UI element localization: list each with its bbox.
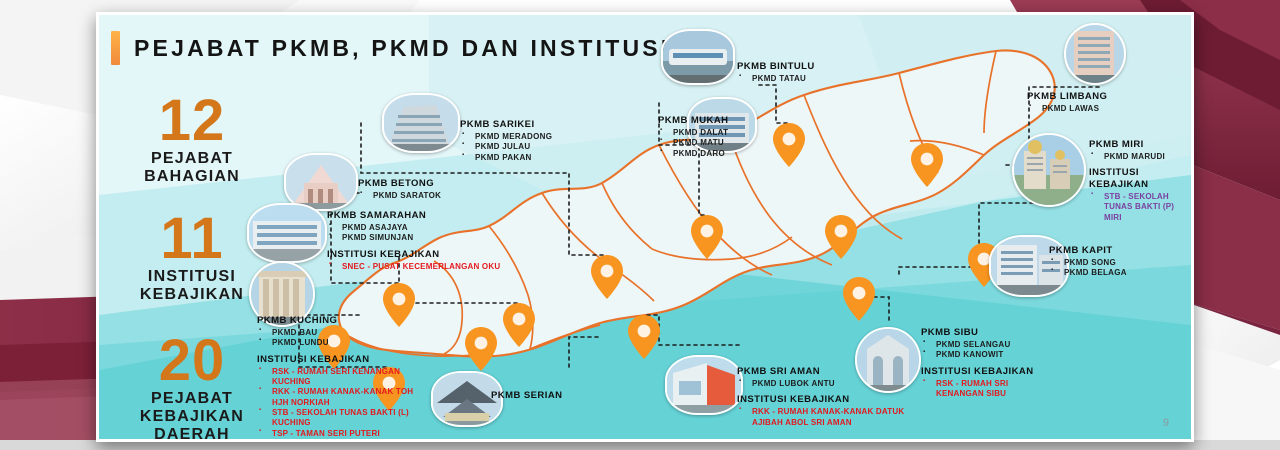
photo-bintulu: [661, 29, 735, 85]
stat-label-line1: PEJABAT: [117, 390, 267, 408]
stat-block-institusi-kebajikan: 11 INSTITUSI KEBAJIKAN: [117, 211, 267, 304]
callout-office-item: PKMD BAU: [257, 328, 421, 338]
callout-title: PKMB LIMBANG: [1027, 91, 1107, 103]
stat-label-line1: INSTITUSI: [117, 268, 267, 286]
map-marker-limbang: [911, 143, 943, 187]
callout-office-list: PKMD ASAJAYA PKMD SIMUNJAN: [327, 223, 500, 244]
callout-title: PKMB KAPIT: [1049, 245, 1127, 257]
callout-office-list: PKMD BAU PKMD LUNDU: [257, 328, 421, 349]
callout-title: PKMB SERIAN: [491, 390, 562, 402]
callout-institution-list: SNEC - PUSAT KECEMERLANGAN OKU: [327, 262, 500, 272]
callout-office-item: PKMD MARUDI: [1089, 152, 1175, 162]
title-label: PEJABAT PKMB, PKMD DAN INSTITUSI: [134, 35, 670, 62]
callout-bintulu: PKMB BINTULU PKMD TATAU: [737, 61, 815, 84]
map-marker-bintulu: [773, 123, 805, 167]
stat-block-pejabat-bahagian: 12 PEJABAT BAHAGIAN: [117, 93, 267, 186]
callout-office-list: PKMD SONG PKMD BELAGA: [1049, 258, 1127, 279]
callout-office-list: PKMD LUBOK ANTU: [737, 379, 909, 389]
callout-office-item: PKMD BELAGA: [1049, 268, 1127, 278]
slide-card: PEJABAT PKMB, PKMD DAN INSTITUSI 12 PEJA…: [96, 12, 1194, 442]
callout-institution-heading: INSTITUSI KEBAJIKAN: [921, 366, 1053, 378]
callout-office-list: PKMD TATAU: [737, 74, 815, 84]
callout-office-item: PKMD LAWAS: [1027, 104, 1107, 114]
stat-label-line3: DAERAH: [117, 426, 267, 442]
callout-office-item: PKMD DALAT: [658, 128, 728, 138]
page-number: 9: [1163, 417, 1169, 429]
callout-office-item: PKMD TATAU: [737, 74, 815, 84]
callout-office-item: PKMD ASAJAYA: [327, 223, 500, 233]
stat-label: INSTITUSI KEBAJIKAN: [117, 268, 267, 304]
callout-betong: PKMB BETONG PKMD SARATOK: [358, 178, 441, 201]
callout-kapit: PKMB KAPIT PKMD SONG PKMD BELAGA: [1049, 245, 1127, 279]
stat-number: 20: [117, 333, 267, 388]
stat-label-line1: PEJABAT: [117, 150, 267, 168]
callout-sibu: PKMB SIBU PKMD SELANGAU PKMD KANOWIT INS…: [921, 327, 1053, 399]
callout-institution-list: STB - SEKOLAH TUNAS BAKTI (P) MIRI: [1089, 192, 1175, 223]
callout-institution-heading: INSTITUSI KEBAJIKAN: [327, 249, 500, 261]
callout-institution-item: AA - ASRAMA AKHLAK (L): [257, 439, 421, 442]
callout-title: PKMB BETONG: [358, 178, 441, 190]
stat-label-line2: KEBAJIKAN: [117, 286, 267, 304]
callout-institution-list: RSK - RUMAH SRI KENANGAN SIBU: [921, 379, 1053, 400]
photo-samarahan: [247, 203, 327, 263]
map-marker-sri-aman: [628, 315, 660, 359]
slide-stage: PEJABAT PKMB, PKMD DAN INSTITUSI 12 PEJA…: [0, 0, 1280, 450]
callout-office-list: PKMD LAWAS: [1027, 104, 1107, 114]
callout-office-item: PKMD SONG: [1049, 258, 1127, 268]
stat-block-pejabat-kebajikan-daerah: 20 PEJABAT KEBAJIKAN DAERAH: [117, 333, 267, 442]
photo-sri-aman: [665, 355, 743, 415]
callout-mukah: PKMB MUKAH PKMD DALAT PKMD MATU PKMD DAR…: [658, 115, 728, 159]
callout-title: PKMB BINTULU: [737, 61, 815, 73]
photo-miri: [1012, 133, 1086, 207]
callout-title: PKMB SAMARAHAN: [327, 210, 500, 222]
stat-number: 12: [117, 93, 267, 148]
map-marker-serian: [465, 327, 497, 371]
stat-label: PEJABAT BAHAGIAN: [117, 150, 267, 186]
callout-office-list: PKMD SELANGAU PKMD KANOWIT: [921, 340, 1053, 361]
callout-sri-aman: PKMB SRI AMAN PKMD LUBOK ANTU INSTITUSI …: [737, 366, 909, 428]
callout-office-item: PKMD SELANGAU: [921, 340, 1053, 350]
map-marker-sarikei: [591, 255, 623, 299]
callout-office-list: PKMD MARUDI: [1089, 152, 1175, 162]
stat-label: PEJABAT KEBAJIKAN DAERAH: [117, 390, 267, 442]
map-marker-sibu: [843, 277, 875, 321]
callout-serian: PKMB SERIAN: [491, 390, 562, 402]
callout-office-item: PKMD PAKAN: [460, 153, 552, 163]
callout-office-item: PKMD MATU: [658, 138, 728, 148]
title-accent-bar: [111, 31, 120, 65]
map-marker-mukah: [691, 215, 723, 259]
callout-institution-heading: INSTITUSI KEBAJIKAN: [1089, 167, 1175, 191]
page-title: PEJABAT PKMB, PKMD DAN INSTITUSI: [111, 31, 670, 65]
photo-sarikei: [382, 93, 460, 153]
stat-label-line2: KEBAJIKAN: [117, 408, 267, 426]
callout-institution-item: TSP - TAMAN SERI PUTERI: [257, 429, 421, 439]
callout-institution-item: RSK - RUMAH SRI KENANGAN SIBU: [921, 379, 1053, 400]
callout-institution-list: RSK - RUMAH SERI KENANGAN KUCHING RKK - …: [257, 367, 421, 442]
callout-office-item: PKMD MERADONG: [460, 132, 552, 142]
callout-institution-item: STB - SEKOLAH TUNAS BAKTI (L) KUCHING: [257, 408, 421, 429]
callout-sarikei: PKMB SARIKEI PKMD MERADONG PKMD JULAU PK…: [460, 119, 552, 163]
callout-institution-list: RKK - RUMAH KANAK-KANAK DATUK AJIBAH ABO…: [737, 407, 909, 428]
callout-institution-heading: INSTITUSI KEBAJIKAN: [737, 394, 909, 406]
callout-office-item: PKMD LUBOK ANTU: [737, 379, 909, 389]
callout-institution-item: RSK - RUMAH SERI KENANGAN KUCHING: [257, 367, 421, 388]
callout-kuching: PKMB KUCHING PKMD BAU PKMD LUNDU INSTITU…: [257, 315, 421, 442]
callout-title: PKMB SIBU: [921, 327, 1053, 339]
callout-office-item: PKMD SARATOK: [358, 191, 441, 201]
callout-office-item: PKMD DARO: [658, 149, 728, 159]
callout-office-item: PKMD JULAU: [460, 142, 552, 152]
map-marker-kapit: [825, 215, 857, 259]
callout-title: PKMB MIRI: [1089, 139, 1175, 151]
callout-title: PKMB KUCHING: [257, 315, 421, 327]
callout-office-item: PKMD LUNDU: [257, 338, 421, 348]
callout-office-list: PKMD SARATOK: [358, 191, 441, 201]
callout-limbang: PKMB LIMBANG PKMD LAWAS: [1027, 91, 1107, 114]
callout-title: PKMB MUKAH: [658, 115, 728, 127]
callout-office-item: PKMD KANOWIT: [921, 350, 1053, 360]
map-marker-samarahan: [503, 303, 535, 347]
callout-samarahan: PKMB SAMARAHAN PKMD ASAJAYA PKMD SIMUNJA…: [327, 210, 500, 272]
callout-miri: PKMB MIRI PKMD MARUDI INSTITUSI KEBAJIKA…: [1089, 139, 1175, 223]
stat-number: 11: [117, 211, 267, 266]
callout-institution-item: STB - SEKOLAH TUNAS BAKTI (P) MIRI: [1089, 192, 1175, 223]
callout-institution-item: SNEC - PUSAT KECEMERLANGAN OKU: [327, 262, 500, 272]
callout-title: PKMB SRI AMAN: [737, 366, 909, 378]
photo-limbang: [1064, 23, 1126, 85]
callout-office-item: PKMD SIMUNJAN: [327, 233, 500, 243]
callout-institution-item: RKK - RUMAH KANAK-KANAK TOH HJH NORKIAH: [257, 387, 421, 408]
stat-label-line2: BAHAGIAN: [117, 168, 267, 186]
callout-office-list: PKMD MERADONG PKMD JULAU PKMD PAKAN: [460, 132, 552, 163]
callout-institution-heading: INSTITUSI KEBAJIKAN: [257, 354, 421, 366]
callout-institution-item: RKK - RUMAH KANAK-KANAK DATUK AJIBAH ABO…: [737, 407, 909, 428]
callout-office-list: PKMD DALAT PKMD MATU PKMD DARO: [658, 128, 728, 159]
callout-title: PKMB SARIKEI: [460, 119, 552, 131]
